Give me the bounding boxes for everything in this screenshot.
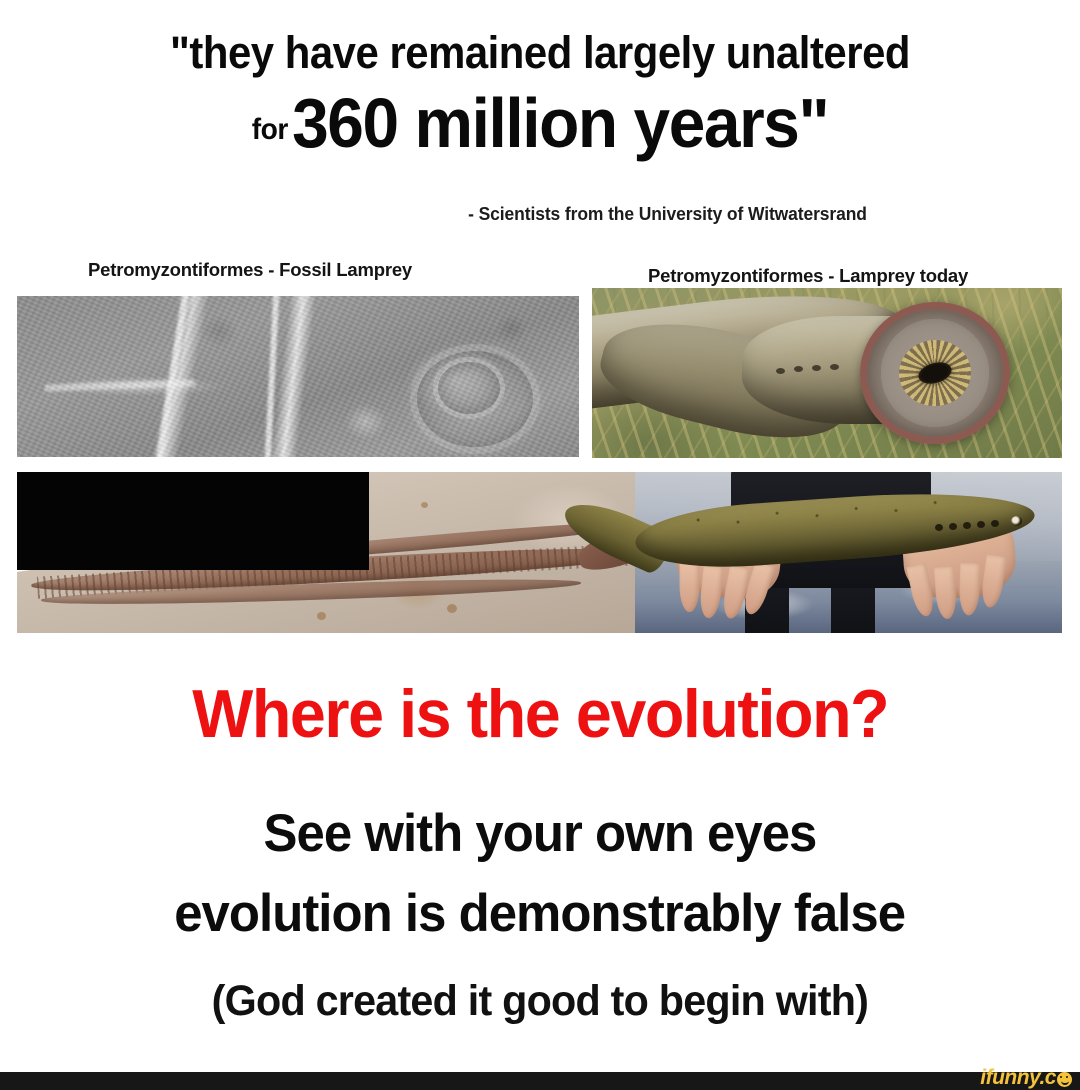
fossil-crack-2 xyxy=(264,296,279,457)
photo-fossil-closeup xyxy=(17,296,579,457)
smiley-face-icon xyxy=(1057,1072,1072,1087)
live-lamprey-eye xyxy=(1011,516,1022,526)
caption-lamprey-today: Petromyzontiformes - Lamprey today xyxy=(648,265,968,287)
red-question-line: Where is the evolution? xyxy=(0,672,1080,756)
red-question-text: Where is the evolution? xyxy=(192,672,888,756)
photo-lamprey-oral-disc xyxy=(592,288,1062,458)
headline-for-word: for xyxy=(252,113,288,146)
gill-pore xyxy=(776,368,785,374)
closing-line: (God created it good to begin with) xyxy=(0,977,1080,1026)
headline-big-text: 360 million years" xyxy=(292,84,828,162)
ifunny-watermark: ifunny.c xyxy=(980,1066,1072,1090)
rock-speck xyxy=(421,502,428,508)
held-lamprey-scene xyxy=(635,472,1062,633)
gill-pore xyxy=(991,520,999,527)
gill-pore xyxy=(830,364,839,370)
body-line-1: See with your own eyes xyxy=(0,803,1080,864)
gill-pore xyxy=(949,523,957,530)
gill-pore xyxy=(977,521,985,528)
photo-comparison-strip xyxy=(17,472,1062,633)
photo-dark-background xyxy=(17,472,369,570)
fossil-crack-1 xyxy=(155,296,190,457)
rock-speck xyxy=(447,604,457,613)
attribution-line: - Scientists from the University of Witw… xyxy=(0,204,1080,225)
fossil-ring-inner xyxy=(433,357,505,419)
watermark-bar: ifunny.c xyxy=(0,1072,1080,1090)
finger xyxy=(680,560,700,612)
caption-fossil-lamprey: Petromyzontiformes - Fossil Lamprey xyxy=(88,259,412,281)
gill-pore xyxy=(812,365,821,371)
headline-line-2: for 360 million years" xyxy=(32,86,1047,180)
gill-pore xyxy=(935,524,943,531)
rock-speck xyxy=(317,612,326,620)
gill-pore xyxy=(963,522,971,529)
headline-block: "they have remained largely unaltered fo… xyxy=(0,26,1080,180)
attribution-text: - Scientists from the University of Witw… xyxy=(469,204,868,225)
body-line-2-text: evolution is demonstrably false xyxy=(175,883,906,944)
headline-line-1: "they have remained largely unaltered xyxy=(38,26,1042,80)
gill-pore xyxy=(794,366,803,372)
body-line-2: evolution is demonstrably false xyxy=(0,883,1080,944)
closing-line-text: (God created it good to begin with) xyxy=(212,977,868,1026)
meme-image: "they have remained largely unaltered fo… xyxy=(0,0,1080,1090)
watermark-text: ifunny.c xyxy=(980,1066,1056,1090)
body-line-1-text: See with your own eyes xyxy=(264,803,817,864)
